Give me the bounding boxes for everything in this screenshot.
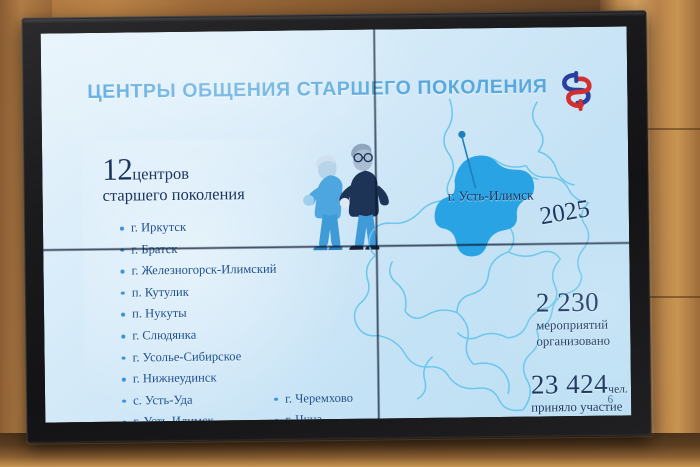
city-item: г. Нижнеудинск (121, 370, 251, 387)
slide-page-number: 6 (608, 394, 614, 406)
stat-participants-caption: приняло участие (531, 399, 628, 415)
centers-count: 12 (102, 151, 132, 186)
stat-events-organized: 2 230 мероприятий организовано (536, 289, 610, 350)
city-item: г. Иркутск (119, 219, 249, 236)
stat-events-caption-2: организовано (536, 334, 610, 349)
city-item: г. Железногорск-Илимский (119, 262, 276, 279)
city-item: с. Усть-Уда (121, 392, 251, 409)
screen-area: ЦЕНТРЫ ОБЩЕНИЯ СТАРШЕГО ПОКОЛЕНИЯ 12цент… (41, 26, 632, 422)
city-item: г. Усть-Илимск (121, 413, 251, 422)
city-item: г. Слюдянка (120, 327, 250, 344)
stat-events-caption-1: мероприятий (536, 318, 610, 333)
stat-events-number: 2 230 (536, 287, 600, 318)
presentation-slide: ЦЕНТРЫ ОБЩЕНИЯ СТАРШЕГО ПОКОЛЕНИЯ 12цент… (41, 26, 632, 422)
stat-participants-number: 23 424 (531, 369, 609, 400)
centers-word: центров (132, 164, 189, 184)
city-item: п. Кутулик (120, 284, 250, 301)
room-scene: ЦЕНТРЫ ОБЩЕНИЯ СТАРШЕГО ПОКОЛЕНИЯ 12цент… (0, 0, 700, 467)
bezel-highlight (23, 12, 644, 24)
city-item: п. Нукуты (120, 305, 250, 322)
city-item: г. Усолье-Сибирское (120, 349, 250, 366)
map-pin-label: г. Усть-Илимск (448, 188, 534, 205)
city-item: г. Чуна (273, 413, 322, 423)
stat-participants: 23 424чел. приняло участие (531, 370, 628, 415)
video-wall-display: ЦЕНТРЫ ОБЩЕНИЯ СТАРШЕГО ПОКОЛЕНИЯ 12цент… (21, 10, 651, 443)
